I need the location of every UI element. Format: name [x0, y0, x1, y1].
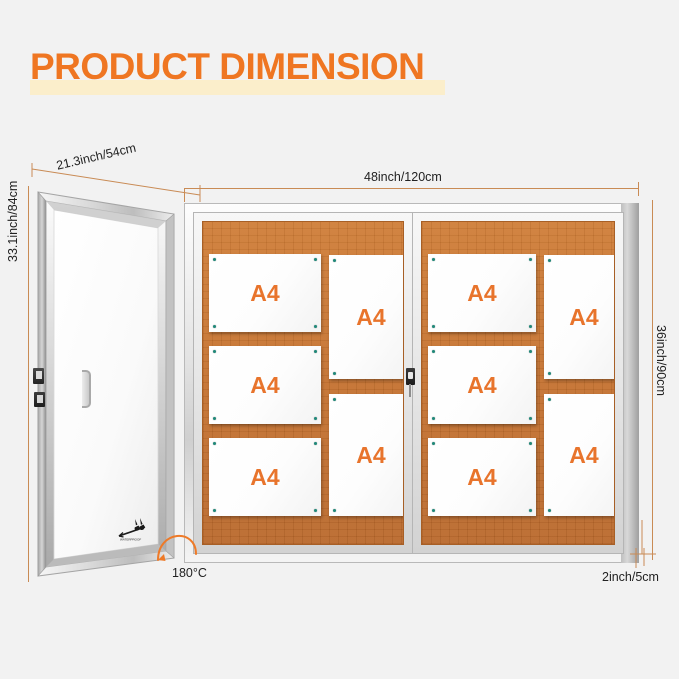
a4-sheet[interactable]: A4 — [329, 255, 404, 379]
a4-sheet[interactable]: A4 — [428, 346, 536, 424]
waterproof-icon: WATERPROOF — [114, 516, 148, 542]
pushpin — [432, 258, 435, 261]
right-display-panel[interactable]: A4 A4 A4 — [412, 212, 624, 554]
pushpin — [548, 509, 551, 512]
pushpin — [529, 325, 532, 328]
pushpin — [432, 417, 435, 420]
a4-sheet[interactable]: A4 — [428, 438, 536, 516]
product-dimension-diagram: WATERPROOF A4 A4 — [0, 0, 679, 679]
left-display-panel[interactable]: A4 A4 A4 — [193, 212, 413, 554]
rotation-angle-label: 180°C — [172, 566, 207, 580]
door-white-board — [54, 210, 158, 559]
door-latch-stile — [166, 214, 174, 558]
pushpin — [213, 258, 216, 261]
pushpin — [529, 417, 532, 420]
rotation-arrow-icon — [148, 520, 208, 572]
pushpin — [529, 442, 532, 445]
center-lock-icon[interactable] — [406, 368, 415, 385]
pushpin — [213, 325, 216, 328]
pushpin — [548, 398, 551, 401]
frame-depth-dimension-line — [600, 520, 660, 570]
pushpin — [314, 509, 317, 512]
pushpin — [314, 350, 317, 353]
a4-sheet[interactable]: A4 — [209, 438, 321, 516]
left-cork-surface: A4 A4 A4 — [202, 221, 404, 545]
a4-sheet[interactable]: A4 — [544, 394, 615, 516]
cabinet-body: A4 A4 A4 — [184, 203, 639, 563]
a4-sheet[interactable]: A4 — [544, 255, 615, 379]
a4-sheet[interactable]: A4 — [329, 394, 404, 516]
pushpin — [432, 325, 435, 328]
door-lock-icon[interactable] — [33, 368, 44, 384]
pushpin — [314, 417, 317, 420]
pushpin — [333, 259, 336, 262]
pushpin — [432, 442, 435, 445]
pushpin — [314, 325, 317, 328]
pushpin — [333, 398, 336, 401]
door-lock-keyhole — [36, 371, 42, 379]
pushpin — [432, 350, 435, 353]
door-lock-secondary-keyhole — [37, 395, 43, 403]
pushpin — [213, 350, 216, 353]
pushpin — [314, 442, 317, 445]
pushpin — [213, 509, 216, 512]
width-dimension-label: 48inch/120cm — [364, 170, 442, 184]
width-dimension-tick-right — [638, 182, 639, 196]
pushpin — [213, 442, 216, 445]
pushpin — [213, 417, 216, 420]
height-dimension-label-right: 36inch/90cm — [654, 325, 668, 396]
a4-sheet[interactable]: A4 — [428, 254, 536, 332]
pushpin — [432, 509, 435, 512]
right-cork-surface: A4 A4 A4 — [421, 221, 615, 545]
height-dimension-line-left — [28, 186, 29, 582]
svg-text:WATERPROOF: WATERPROOF — [120, 538, 141, 542]
height-dimension-label-left: 33.1inch/84cm — [6, 181, 20, 262]
frame-depth-label: 2inch/5cm — [602, 570, 659, 584]
door-hinge-stile — [38, 192, 46, 576]
center-lock-keyhole — [408, 372, 413, 379]
pushpin — [529, 350, 532, 353]
a4-sheet[interactable]: A4 — [209, 346, 321, 424]
pushpin — [314, 258, 317, 261]
pushpin — [529, 509, 532, 512]
pushpin — [333, 509, 336, 512]
pushpin — [529, 258, 532, 261]
pushpin — [333, 372, 336, 375]
height-dimension-line-right — [652, 200, 653, 560]
width-dimension-line — [184, 188, 639, 189]
door-lock-secondary-icon[interactable] — [34, 392, 45, 407]
door-handle[interactable] — [82, 370, 91, 408]
pushpin — [548, 372, 551, 375]
pushpin — [548, 259, 551, 262]
a4-sheet[interactable]: A4 — [209, 254, 321, 332]
